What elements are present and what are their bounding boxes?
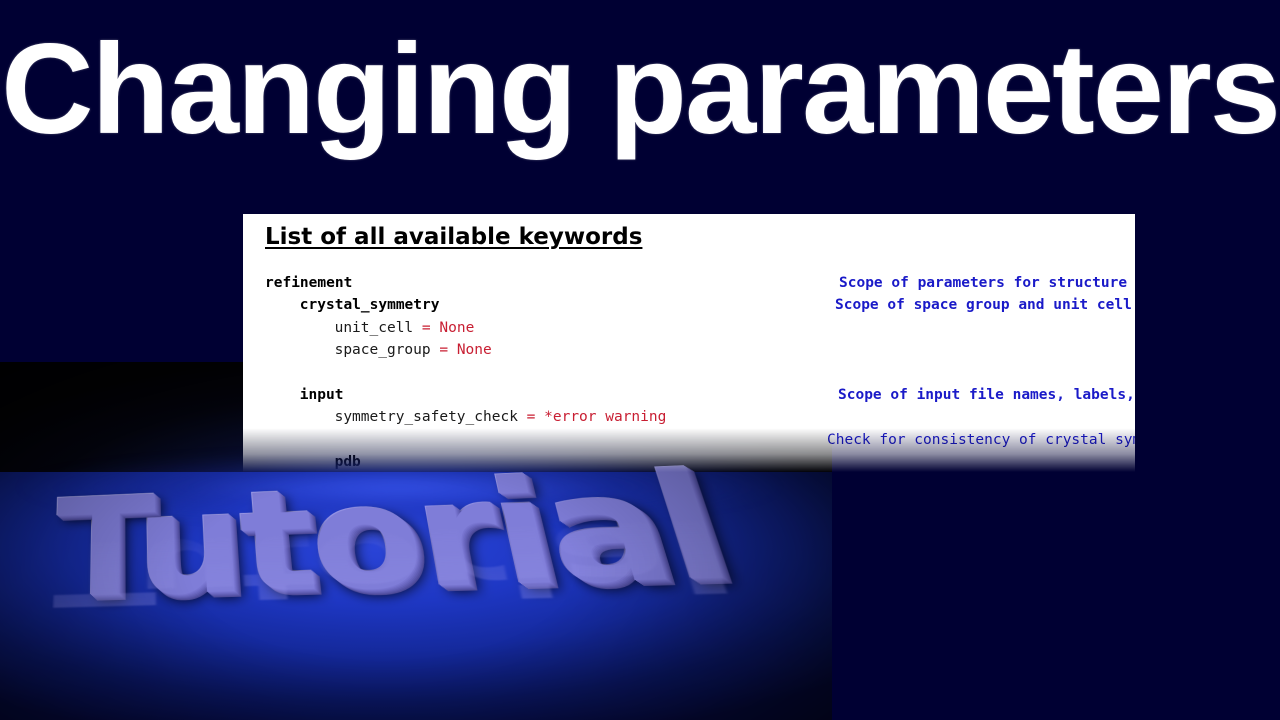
keyword-scope-name: pdb [335, 454, 361, 470]
keyword-value: None [457, 342, 492, 358]
keyword-row: inputScope of input file names, labels, … [243, 384, 1135, 406]
keyword-parameter-name: space_group [335, 342, 431, 358]
keyword-row: crystal_symmetryScope of space group and… [243, 294, 1135, 316]
keyword-list-card: List of all available keywords refinemen… [243, 214, 1135, 472]
keyword-entry: crystal_symmetry [300, 294, 440, 316]
keyword-code-block: refinementScope of parameters for struct… [243, 272, 1135, 472]
keyword-row: refinementScope of parameters for struct… [243, 272, 1135, 294]
keyword-description: Check for consistency of crystal symmetr… [827, 429, 1135, 451]
page-title: Changing parameters [0, 26, 1280, 154]
card-heading: List of all available keywords [265, 224, 642, 250]
keyword-description: Scope of input file names, labels, proce… [838, 384, 1135, 406]
keyword-value: *error warning [544, 409, 666, 425]
slide-canvas: Changing parameters Tutorial Tutorial Li… [0, 0, 1280, 720]
keyword-row: pdb [243, 451, 1135, 472]
keyword-entry: pdb [335, 451, 361, 472]
tutorial-word: Tutorial [52, 453, 741, 618]
keyword-row: Check for consistency of crystal symmetr… [243, 429, 1135, 451]
keyword-equals-sign: = [431, 342, 457, 358]
keyword-scope-name: refinement [265, 275, 352, 291]
keyword-row [243, 362, 1135, 384]
keyword-entry: symmetry_safety_check = *error warning [335, 406, 667, 428]
keyword-entry: unit_cell = None [335, 317, 475, 339]
keyword-entry: input [300, 384, 344, 406]
keyword-entry: space_group = None [335, 339, 492, 361]
keyword-scope-name: crystal_symmetry [300, 297, 440, 313]
keyword-equals-sign: = [413, 320, 439, 336]
keyword-scope-name: input [300, 387, 344, 403]
keyword-value: None [439, 320, 474, 336]
keyword-description: Scope of space group and unit cell param… [835, 294, 1135, 316]
keyword-description: Scope of parameters for structure refine… [839, 272, 1135, 294]
keyword-row: space_group = None [243, 339, 1135, 361]
keyword-parameter-name: symmetry_safety_check [335, 409, 518, 425]
keyword-row: unit_cell = None [243, 317, 1135, 339]
keyword-row: symmetry_safety_check = *error warning [243, 406, 1135, 428]
keyword-equals-sign: = [518, 409, 544, 425]
keyword-parameter-name: unit_cell [335, 320, 414, 336]
keyword-entry: refinement [265, 272, 352, 294]
